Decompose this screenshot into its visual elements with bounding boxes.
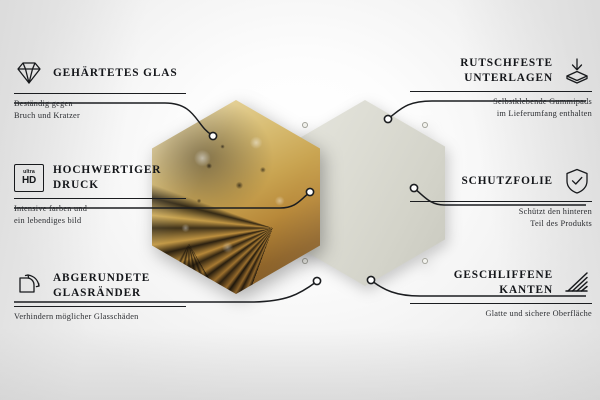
feature-title: SCHUTZFOLIE [410, 174, 553, 189]
feature-rutschfeste-unterlagen: RUTSCHFESTE UNTERLAGEN Selbstklebende Gu… [410, 56, 592, 120]
feature-desc: Intensive farben und ein lebendiges bild [14, 203, 186, 227]
badge-bottom-label: HD [22, 176, 36, 186]
feature-desc: Verhindern möglicher Glasschäden [14, 311, 186, 323]
feature-title: GEHÄRTETES GLAS [53, 66, 178, 81]
feature-desc: Beständig gegen Bruch und Kratzer [14, 98, 186, 122]
feature-title: RUTSCHFESTE UNTERLAGEN [410, 56, 553, 86]
connector-dot [209, 132, 216, 139]
divider [410, 201, 592, 202]
connector-dot [367, 276, 374, 283]
rounded-corner-icon [14, 271, 44, 301]
connector-dot [384, 115, 391, 122]
feature-title: HOCHWERTIGER DRUCK [53, 163, 186, 193]
feature-title: GESCHLIFFENE KANTEN [410, 268, 553, 298]
feature-schutzfolie: SCHUTZFOLIE Schützt den hinteren Teil de… [410, 166, 592, 230]
feature-title: ABGERUNDETE GLASRÄNDER [53, 271, 186, 301]
feature-abgerundete-glasraender: ABGERUNDETE GLASRÄNDER Verhindern möglic… [14, 271, 186, 323]
feature-desc: Selbstklebende Gummipads im Lieferumfang… [410, 96, 592, 120]
connector-dot [313, 277, 320, 284]
divider [14, 198, 186, 199]
feature-gehaertetes-glas: GEHÄRTETES GLAS Beständig gegen Bruch un… [14, 58, 186, 122]
diamond-icon [14, 58, 44, 88]
press-pad-icon [562, 56, 592, 86]
divider [410, 91, 592, 92]
feature-geschliffene-kanten: GESCHLIFFENE KANTEN Glatte und sichere O… [410, 268, 592, 320]
feature-desc: Glatte und sichere Oberfläche [410, 308, 592, 320]
divider [410, 303, 592, 304]
infographic-canvas: GEHÄRTETES GLAS Beständig gegen Bruch un… [0, 0, 600, 400]
connector-dot [306, 188, 313, 195]
ultra-hd-badge-icon: ultra HD [14, 164, 44, 192]
feature-hochwertiger-druck: ultra HD HOCHWERTIGER DRUCK Intensive fa… [14, 163, 186, 227]
shield-check-icon [562, 166, 592, 196]
hatched-triangle-icon [562, 268, 592, 298]
divider [14, 306, 186, 307]
divider [14, 93, 186, 94]
feature-desc: Schützt den hinteren Teil des Produkts [410, 206, 592, 230]
